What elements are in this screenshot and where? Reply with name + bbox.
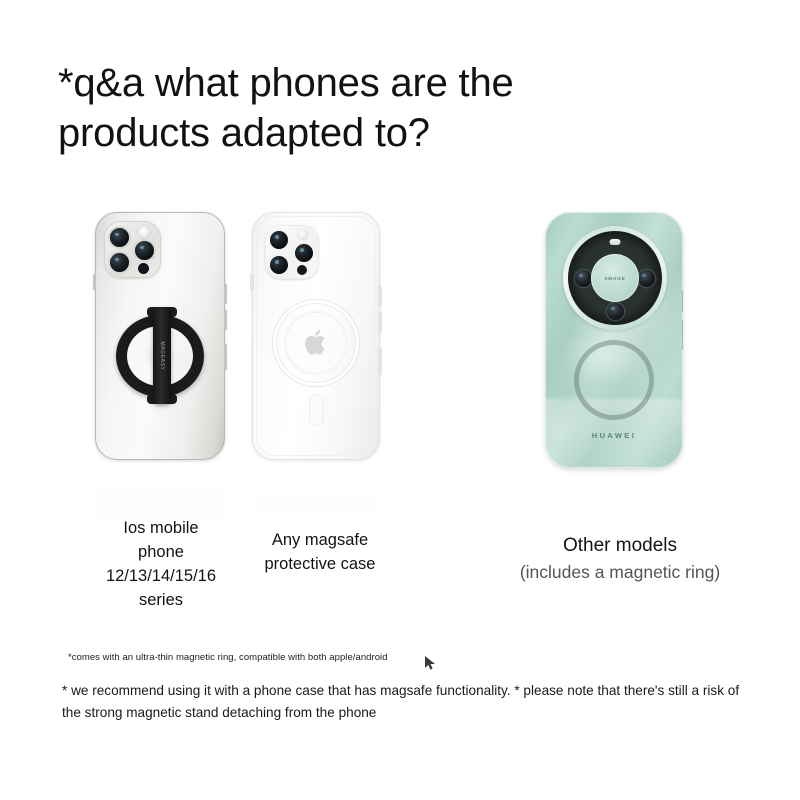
page-title: *q&a what phones are the products adapte… xyxy=(58,58,718,158)
camera-module-inner: XMAGE xyxy=(568,231,662,325)
product-gallery: MAGEASY xyxy=(0,212,800,512)
product-item-ios-iphone[interactable]: MAGEASY xyxy=(95,212,225,460)
xmage-label: XMAGE xyxy=(604,276,625,281)
camera-lens-icon xyxy=(293,242,315,264)
caption-line: Ios mobile xyxy=(78,516,244,540)
power-button-icon xyxy=(682,320,683,350)
power-button-icon xyxy=(224,344,227,370)
lidar-sensor-icon xyxy=(138,263,149,274)
mute-switch-icon xyxy=(93,274,96,290)
disclaimer-note: * we recommend using it with a phone cas… xyxy=(62,680,752,724)
fine-print-note: *comes with an ultra-thin magnetic ring,… xyxy=(68,652,388,663)
volume-down-button-icon xyxy=(224,310,227,330)
product-item-other-models[interactable]: XMAGE HUAWEI xyxy=(545,212,683,468)
apple-logo-icon xyxy=(304,327,330,358)
flash-icon xyxy=(137,225,151,239)
phone-reflection xyxy=(252,460,380,516)
caption-other-models: Other models (includes a magnetic ring) xyxy=(460,533,780,585)
camera-lens-icon xyxy=(268,229,290,251)
accessory-brand-label: MAGEASY xyxy=(159,341,165,370)
mute-switch-icon xyxy=(250,274,254,291)
microphone-icon xyxy=(152,256,155,259)
camera-lens-icon xyxy=(638,270,655,287)
camera-module: XMAGE xyxy=(563,226,667,330)
flash-icon xyxy=(296,228,309,241)
phone-titanium-iphone: MAGEASY xyxy=(95,212,225,460)
lidar-sensor-icon xyxy=(297,265,307,275)
caption-title: Other models xyxy=(460,533,780,559)
caption-line: phone xyxy=(78,540,244,564)
camera-center-plate: XMAGE xyxy=(591,254,639,302)
volume-up-button-icon xyxy=(224,284,227,304)
camera-lens-icon xyxy=(268,254,290,276)
volume-down-button-icon xyxy=(378,312,382,333)
caption-line: protective case xyxy=(240,552,400,576)
phone-huawei-mate: XMAGE HUAWEI xyxy=(545,212,683,468)
product-item-magsafe-case[interactable] xyxy=(252,212,380,460)
volume-up-button-icon xyxy=(378,286,382,307)
huawei-brand-label: HUAWEI xyxy=(545,431,683,440)
camera-lens-icon xyxy=(607,303,624,320)
phone-reflection xyxy=(95,460,225,516)
caption-line: 12/13/14/15/16 xyxy=(78,564,244,588)
caption-subtitle: (includes a magnetic ring) xyxy=(460,559,780,585)
camera-lens-icon xyxy=(575,270,592,287)
camera-lens-icon xyxy=(108,226,131,249)
power-button-icon xyxy=(378,348,382,375)
flash-icon xyxy=(610,239,621,245)
caption-magsafe-case: Any magsafe protective case xyxy=(240,528,400,576)
ring-center-bar: MAGEASY xyxy=(153,307,171,404)
caption-line: series xyxy=(78,588,244,612)
camera-module xyxy=(104,221,161,278)
magnetic-ring-outline xyxy=(574,340,654,420)
magsafe-alignment-pill xyxy=(309,394,324,426)
caption-line: Any magsafe xyxy=(240,528,400,552)
volume-button-icon xyxy=(682,290,683,312)
caption-ios-iphone: Ios mobile phone 12/13/14/15/16 series xyxy=(78,516,244,612)
magnetic-ring-stand: MAGEASY xyxy=(113,307,207,404)
cursor-icon xyxy=(424,655,438,671)
phone-clear-magsafe-case xyxy=(252,212,380,460)
camera-lens-icon xyxy=(108,251,131,274)
camera-module xyxy=(265,225,319,279)
